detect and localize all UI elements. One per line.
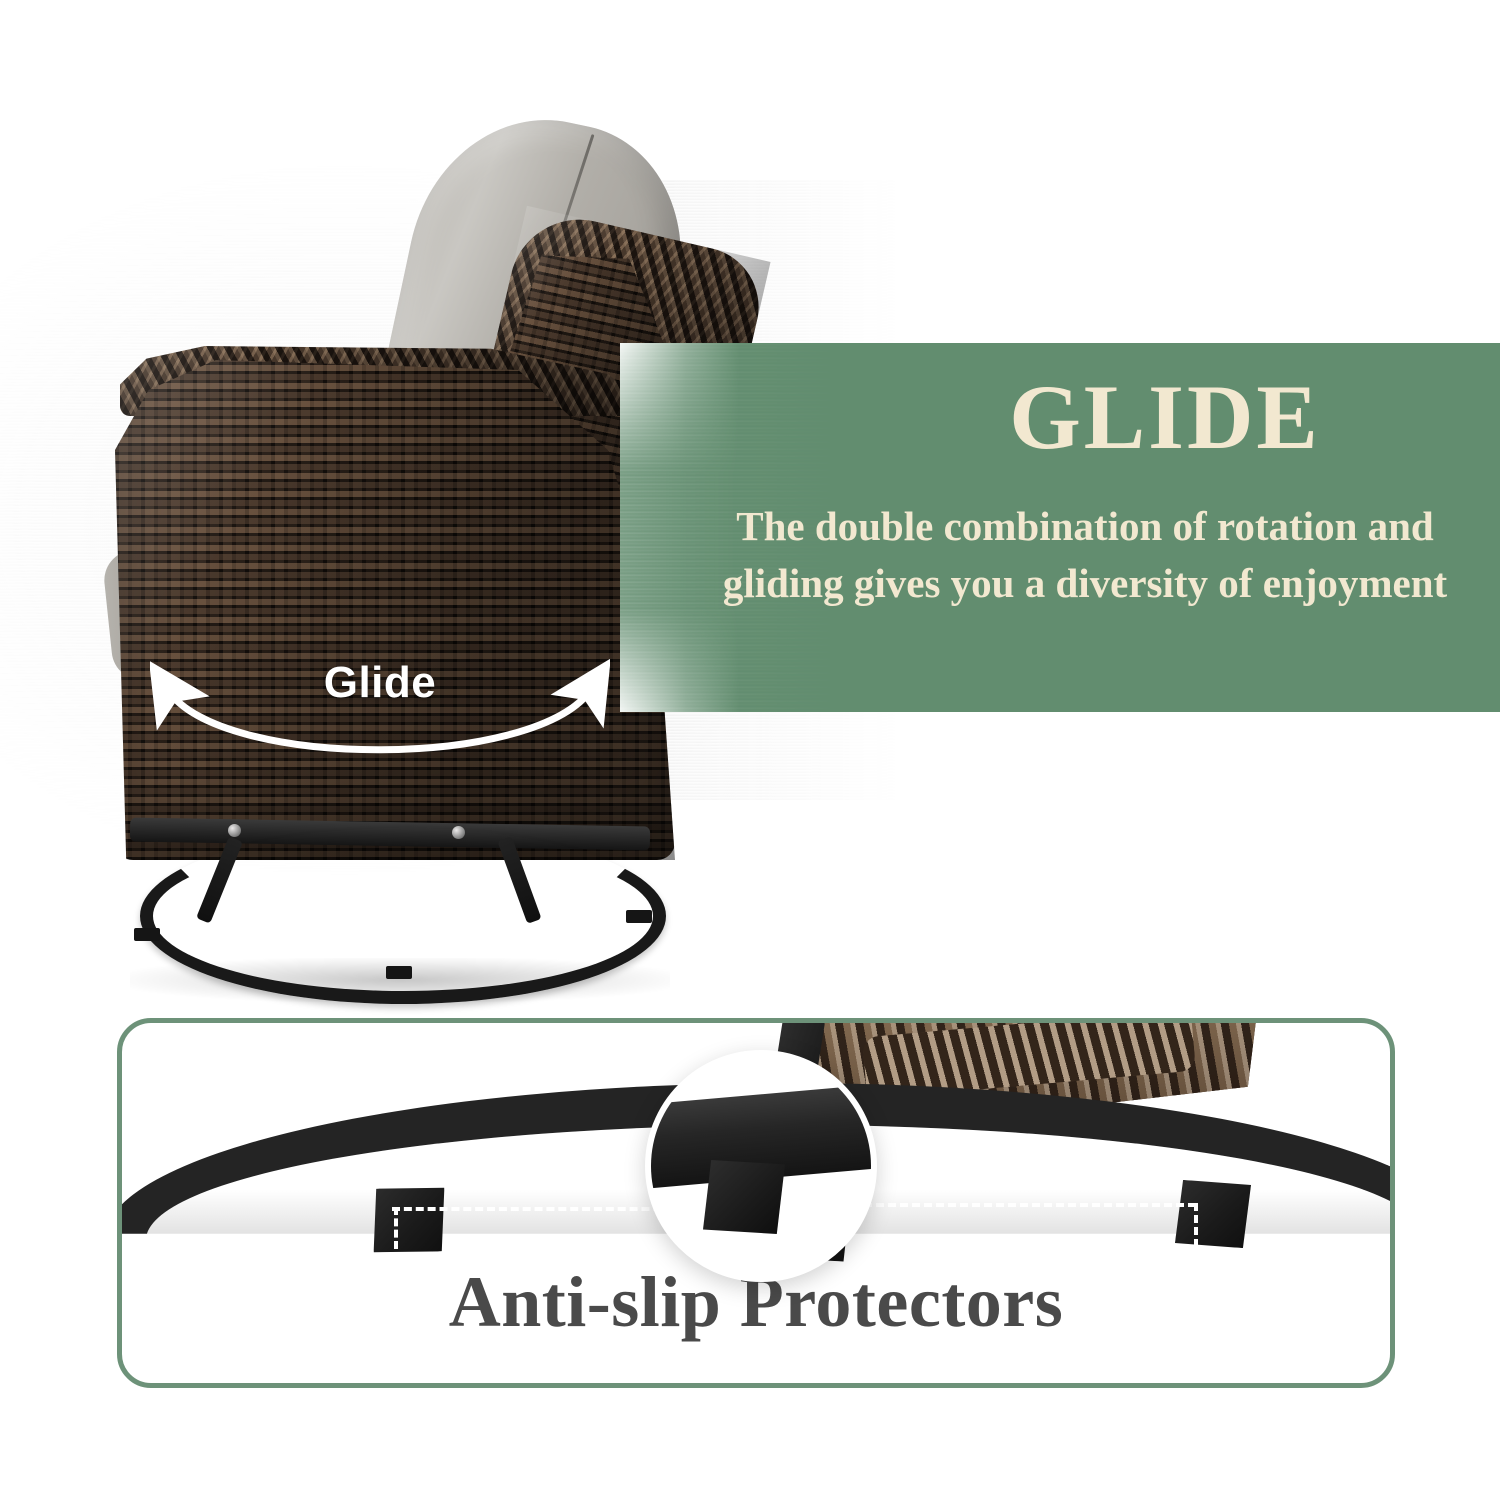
measure-line-right [864,1203,1196,1207]
glide-description: The double combination of rotation and g… [710,498,1460,611]
anti-slip-protector-left [370,1185,447,1255]
glide-text-panel: GLIDE The double combination of rotation… [620,343,1500,712]
base-screw-left [228,824,241,837]
measure-tick-right [1194,1203,1198,1247]
base-foot-right [626,910,652,923]
glide-arrow-label: Glide [150,658,610,708]
glide-heading: GLIDE [620,371,1500,463]
glide-feature-section: GLIDE The double combination of rotation… [0,0,1500,960]
base-foot-left [134,928,160,941]
magnified-protector [703,1160,785,1234]
measure-tick-left [394,1207,398,1249]
base-screw-right [452,826,465,839]
anti-slip-protector-right [1175,1180,1251,1249]
magnifier-callout [645,1050,877,1282]
glide-annotation: Glide [150,630,610,780]
base-foot-center [386,966,412,979]
